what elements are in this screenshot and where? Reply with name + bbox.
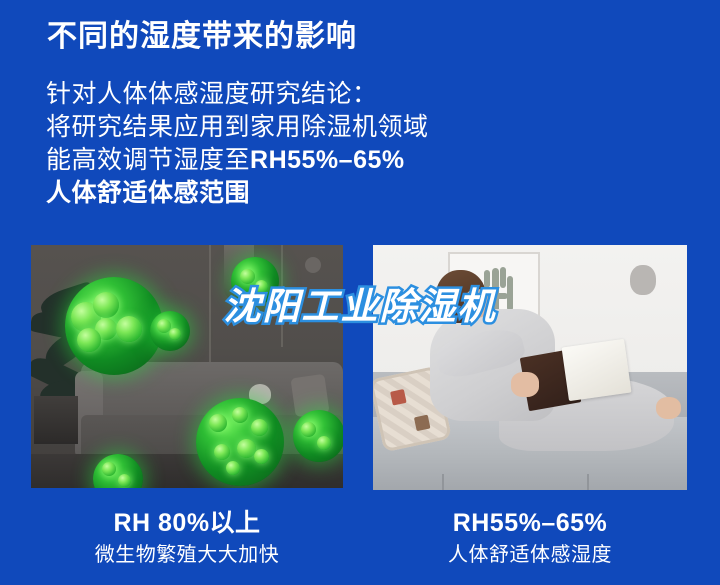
wall-decor-icon (630, 265, 656, 295)
cactus-arm (507, 276, 513, 311)
person-face (464, 289, 489, 318)
microbe-cluster-icon (196, 398, 284, 486)
microbe-cluster-icon (65, 277, 163, 375)
seat-seam (442, 474, 444, 490)
wall-seam-secondary (281, 245, 283, 347)
plant-pot (34, 396, 78, 444)
body-line-2: 将研究结果应用到家用除湿机领域 (46, 111, 429, 144)
person-hand (511, 372, 539, 397)
pillow-motif (414, 415, 431, 432)
body-line-3: 能高效调节湿度至RH55%–65% (46, 144, 429, 177)
caption-comfort-humidity: RH55%–65% 人体舒适体感湿度 (373, 508, 687, 568)
microbe-cluster-icon (231, 257, 279, 305)
wall-seam (209, 245, 211, 362)
photo-comfort-humidity (373, 245, 687, 490)
humidity-range-highlight: RH55%–65% (250, 146, 405, 174)
page-title: 不同的湿度带来的影响 (47, 18, 357, 56)
book-pages (561, 339, 631, 401)
bright-living-room-scene (373, 245, 687, 490)
microbe-cluster-icon (293, 410, 343, 462)
wall-knob-icon (305, 257, 321, 273)
body-line-1: 针对人体体感湿度研究结论： (46, 78, 429, 111)
caption-main-label: RH55%–65% (373, 508, 687, 538)
cactus-arm (500, 267, 506, 288)
person-foot (656, 397, 681, 419)
caption-sub-label: 微生物繁殖大大加快 (31, 543, 343, 568)
pillow-motif (390, 390, 407, 407)
humidity-infographic-poster: 不同的湿度带来的影响 针对人体体感湿度研究结论： 将研究结果应用到家用除湿机领域… (0, 0, 720, 585)
caption-high-humidity: RH 80%以上 微生物繁殖大大加快 (31, 508, 343, 568)
cactus-arm (484, 270, 490, 288)
dark-living-room-scene (31, 245, 343, 488)
floor (31, 454, 343, 488)
caption-main-label: RH 80%以上 (31, 508, 343, 538)
caption-sub-label: 人体舒适体感湿度 (373, 543, 687, 568)
seat-seam (587, 474, 589, 490)
microbe-cluster-icon (150, 311, 190, 351)
body-line-3-prefix: 能高效调节湿度至 (46, 146, 250, 174)
body-line-4: 人体舒适体感范围 (46, 177, 429, 210)
body-copy-block: 针对人体体感湿度研究结论： 将研究结果应用到家用除湿机领域 能高效调节湿度至RH… (46, 78, 429, 210)
photo-high-humidity (31, 245, 343, 488)
